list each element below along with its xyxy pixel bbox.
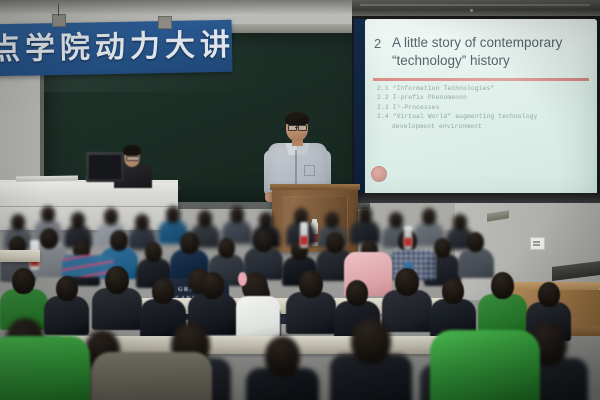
lens-vignette <box>0 0 600 400</box>
lecture-hall-photo: 点学院动力大讲堂 2 A little story of contemporar… <box>0 0 600 400</box>
